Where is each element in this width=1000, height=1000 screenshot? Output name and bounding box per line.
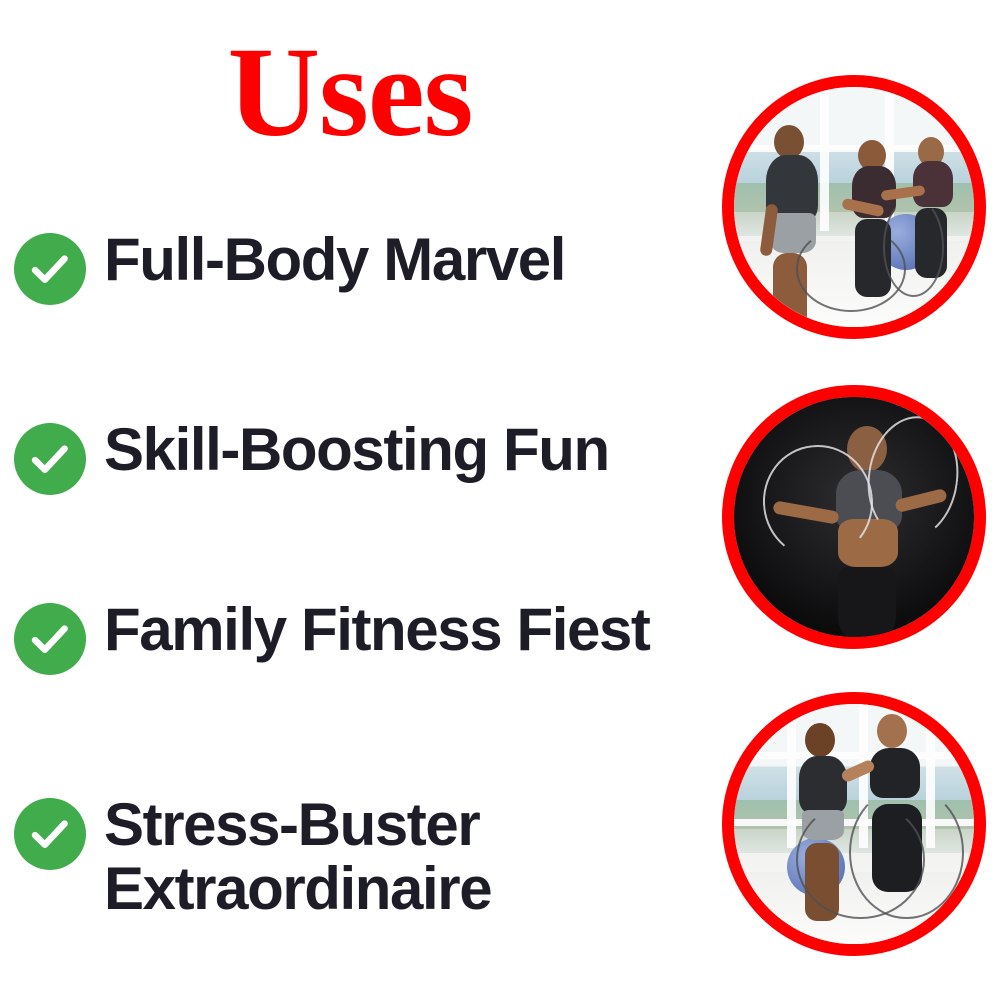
list-item: Family Fitness Fiest bbox=[14, 598, 700, 675]
photo-athletic-woman-with-jump-rope-dark-studio bbox=[722, 385, 986, 649]
photo-three-women-jumping-rope-in-bright-gym bbox=[722, 75, 986, 339]
list-item: Full-Body Marvel bbox=[14, 228, 700, 305]
check-circle-icon bbox=[14, 798, 86, 870]
gym-scene-illustration bbox=[734, 87, 974, 327]
list-item-label: Full-Body Marvel bbox=[104, 228, 700, 292]
photo-two-women-jumping-rope-by-window bbox=[722, 692, 986, 956]
check-circle-icon bbox=[14, 603, 86, 675]
list-item: Stress-Buster Extraordinaire bbox=[14, 793, 700, 920]
studio-scene-illustration bbox=[734, 397, 974, 637]
uses-list: Full-Body Marvel Skill-Boosting Fun Fami… bbox=[0, 200, 700, 960]
list-item-label: Stress-Buster Extraordinaire bbox=[104, 793, 700, 920]
list-item-label: Family Fitness Fiest bbox=[104, 598, 700, 662]
check-circle-icon bbox=[14, 423, 86, 495]
page-title: Uses bbox=[0, 28, 700, 156]
list-item: Skill-Boosting Fun bbox=[14, 418, 700, 495]
list-item-label: Skill-Boosting Fun bbox=[104, 418, 700, 482]
gym-window-scene-illustration bbox=[734, 704, 974, 944]
uses-infographic-poster: Uses Full-Body Marvel Skill-Boosting Fun bbox=[0, 0, 1000, 1000]
check-circle-icon bbox=[14, 233, 86, 305]
